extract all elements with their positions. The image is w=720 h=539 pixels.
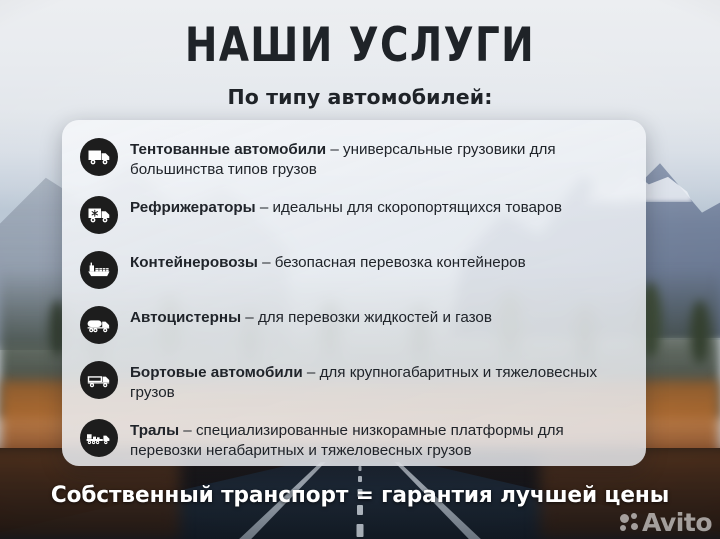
list-item-text: Тентованные автомобили – универсальные г… (130, 133, 626, 179)
list-item-separator: – (258, 254, 275, 271)
avito-watermark: Avito (620, 510, 712, 535)
list-item-separator: – (303, 364, 320, 381)
list-item-text: Контейнеровозы – безопасная перевозка ко… (130, 246, 526, 273)
flatbed-truck-icon (80, 361, 118, 399)
container-ship-icon (80, 251, 118, 289)
list-item-term: Тентованные автомобили (130, 141, 326, 158)
list-item-text: Бортовые автомобили – для крупногабаритн… (130, 356, 626, 402)
list-item-term: Бортовые автомобили (130, 364, 303, 381)
list-item-term: Рефрижераторы (130, 199, 256, 216)
list-item-description: идеальны для скоропортящихся товаров (273, 199, 562, 216)
list-item-description: специализированные низкорамные платформы… (130, 422, 564, 459)
list-item-text: Автоцистерны – для перевозки жидкостей и… (130, 301, 492, 328)
list-item: Автоцистерны – для перевозки жидкостей и… (62, 301, 646, 354)
road-center-dash (357, 524, 364, 537)
list-item-text: Тралы – специализированные низкорамные п… (130, 414, 626, 460)
poster-canvas: НАШИ УСЛУГИ По типу автомобилей: Т (0, 0, 720, 539)
list-item: Бортовые автомобили – для крупногабаритн… (62, 356, 646, 412)
list-item-description: безопасная перевозка контейнеров (275, 254, 526, 271)
list-item-term: Тралы (130, 422, 179, 439)
refrigerated-truck-icon (80, 196, 118, 234)
services-list: Тентованные автомобили – универсальные г… (62, 120, 646, 466)
list-item: Тралы – специализированные низкорамные п… (62, 414, 646, 466)
services-card: Тентованные автомобили – универсальные г… (62, 120, 646, 466)
list-item-text: Рефрижераторы – идеальны для скоропортящ… (130, 191, 562, 218)
list-item: Тентованные автомобили – универсальные г… (62, 133, 646, 189)
tanker-truck-icon (80, 306, 118, 344)
list-item-separator: – (326, 141, 343, 158)
box-truck-icon (80, 138, 118, 176)
list-item-term: Контейнеровозы (130, 254, 258, 271)
road-center-dash (359, 466, 362, 471)
list-item-description: для перевозки жидкостей и газов (258, 309, 492, 326)
list-item-term: Автоцистерны (130, 309, 241, 326)
list-item-separator: – (256, 199, 273, 216)
list-item: Контейнеровозы – безопасная перевозка ко… (62, 246, 646, 299)
page-title: НАШИ УСЛУГИ (29, 18, 691, 73)
list-item-separator: – (179, 422, 196, 439)
list-item-separator: – (241, 309, 258, 326)
avito-logo-icon (620, 513, 640, 533)
footer-tagline: Собственный транспорт = гарантия лучшей … (14, 482, 705, 508)
page-subtitle: По типу автомобилей: (0, 85, 720, 109)
list-item: Рефрижераторы – идеальны для скоропортящ… (62, 191, 646, 244)
lowboy-trailer-icon (80, 419, 118, 457)
avito-wordmark: Avito (642, 510, 712, 535)
